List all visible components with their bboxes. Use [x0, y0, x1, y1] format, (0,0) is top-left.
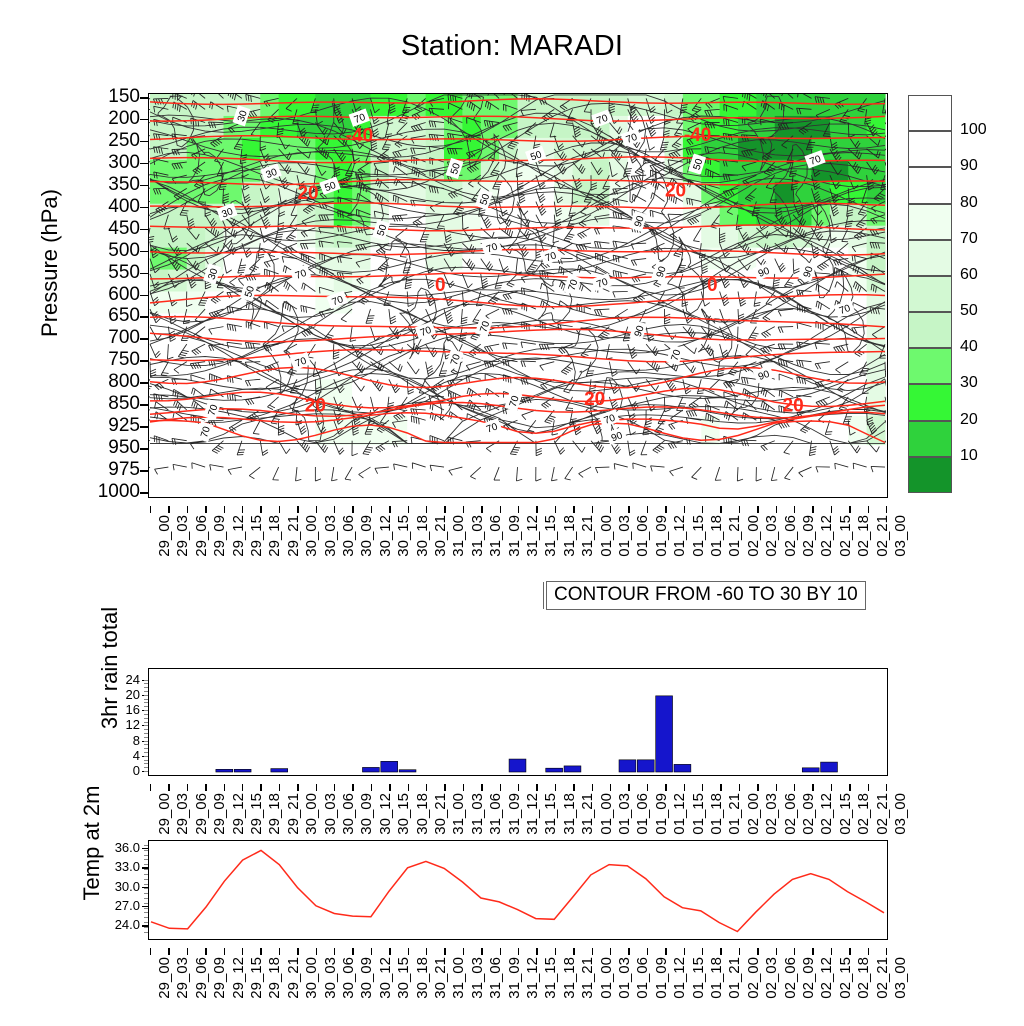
- rh-cell: [536, 160, 555, 183]
- wind-barb-feather: [294, 386, 300, 387]
- rain-bar: [216, 769, 233, 772]
- wind-barb-shaft: [149, 98, 150, 106]
- x-tick-mark: [150, 506, 151, 513]
- pressure-tick-mark: [140, 382, 148, 384]
- wind-barb-shaft: [885, 362, 886, 377]
- rh-cell: [793, 313, 812, 336]
- x-tick-mark: [849, 784, 850, 791]
- x-tick-label: 29_09: [211, 793, 228, 835]
- colorbar-tick-label: 90: [960, 157, 978, 175]
- x-tick-label: 30_00: [303, 793, 320, 835]
- pressure-tick-label: 200: [80, 108, 140, 130]
- temperature-contour-label: -40: [684, 125, 711, 146]
- rh-cell: [573, 94, 592, 117]
- x-tick-label: 31_03: [469, 793, 486, 835]
- x-tick-label: 30_21: [432, 793, 449, 835]
- x-tick-mark: [555, 784, 556, 791]
- colorbar-cell: [908, 384, 952, 420]
- x-tick-mark: [518, 948, 519, 955]
- wind-barb-feather: [754, 210, 760, 211]
- pressure-tick-label: 1000: [80, 481, 140, 503]
- rh-cell: [297, 116, 316, 139]
- wind-barb-feather: [626, 169, 632, 170]
- x-tick-mark: [665, 506, 666, 513]
- wind-barb-feather: [754, 208, 760, 209]
- x-tick-mark: [684, 784, 685, 791]
- x-tick-label: 29_06: [193, 957, 210, 999]
- wind-barb-shaft: [149, 123, 150, 125]
- rh-cell: [334, 248, 353, 271]
- pressure-tick-mark: [140, 229, 148, 231]
- pressure-tick-label: 700: [80, 327, 140, 349]
- wind-barb-shaft: [149, 228, 150, 243]
- pressure-tick-mark: [140, 316, 148, 318]
- wind-barb-feather: [726, 119, 727, 125]
- x-tick-label: 29_03: [174, 957, 191, 999]
- rain-tick-label: 24: [96, 672, 140, 687]
- temperature-contour-label: -40: [346, 126, 373, 147]
- temperature-contour-label: 20: [305, 396, 326, 417]
- rain-bar: [674, 764, 691, 772]
- x-tick-mark: [316, 784, 317, 791]
- wind-barb-shaft: [149, 157, 150, 162]
- wind-barb-feather: [625, 171, 631, 172]
- x-tick-label: 02_15: [837, 957, 854, 999]
- x-tick-label: 29_21: [285, 515, 302, 557]
- x-tick-mark: [536, 948, 537, 955]
- pressure-tick-label: 850: [80, 393, 140, 415]
- x-tick-label: 29_15: [248, 957, 265, 999]
- x-tick-label: 30_03: [322, 957, 339, 999]
- wind-barb-feather: [779, 406, 780, 412]
- rh-cell: [536, 270, 555, 293]
- wind-barb-feather: [180, 215, 186, 216]
- x-tick-label: 30_15: [395, 957, 412, 999]
- x-tick-mark: [444, 506, 445, 513]
- pressure-tick-mark: [140, 338, 148, 340]
- rain-bar: [637, 760, 654, 772]
- colorbar-cell: [908, 240, 952, 276]
- rh-cell: [426, 94, 445, 117]
- pressure-tick-label: 450: [80, 218, 140, 240]
- x-tick-mark: [500, 948, 501, 955]
- rh-cell: [812, 226, 831, 249]
- pressure-tick-mark: [140, 470, 148, 472]
- pressure-tick-mark: [140, 492, 148, 494]
- x-tick-mark: [592, 948, 593, 955]
- x-tick-mark: [610, 784, 611, 791]
- x-tick-mark: [831, 784, 832, 791]
- pressure-tick-mark: [140, 97, 148, 99]
- main-y-axis-label: Pressure (hPa): [37, 113, 63, 413]
- pressure-tick-label: 600: [80, 284, 140, 306]
- rh-cell: [371, 313, 390, 336]
- pressure-tick-mark: [140, 426, 148, 428]
- x-tick-mark: [334, 948, 335, 955]
- x-tick-label: 29_12: [230, 515, 247, 557]
- x-tick-label: 31_21: [579, 957, 596, 999]
- pressure-tick-mark: [140, 163, 148, 165]
- x-tick-label: 29_15: [248, 515, 265, 557]
- x-tick-mark: [316, 948, 317, 955]
- rain-bar: [399, 770, 416, 772]
- x-tick-label: 30_21: [432, 515, 449, 557]
- x-tick-mark: [628, 784, 629, 791]
- wind-barb-feather: [779, 390, 780, 396]
- wind-barb-shaft: [149, 202, 150, 203]
- x-tick-label: 31_03: [469, 957, 486, 999]
- x-tick-label: 29_00: [156, 793, 173, 835]
- wind-barb-shaft: [149, 182, 150, 188]
- x-tick-label: 30_15: [395, 515, 412, 557]
- wind-barb-shaft: [149, 414, 150, 420]
- x-tick-mark: [168, 506, 169, 513]
- wind-barb-feather: [182, 210, 188, 211]
- x-tick-label: 30_12: [377, 793, 394, 835]
- x-tick-label: 02_06: [782, 793, 799, 835]
- x-tick-mark: [408, 784, 409, 791]
- rh-cell: [701, 226, 720, 249]
- colorbar-tick-label: 100: [960, 121, 987, 139]
- wind-barb-feather: [584, 112, 590, 113]
- wind-barb-feather: [724, 118, 725, 124]
- x-tick-label: 29_03: [174, 515, 191, 557]
- rh-cell: [683, 226, 702, 249]
- wind-barb-feather: [319, 287, 320, 293]
- x-tick-label: 31_00: [450, 957, 467, 999]
- x-tick-label: 31_21: [579, 515, 596, 557]
- pressure-tick-label: 250: [80, 130, 140, 152]
- x-tick-label: 01_06: [634, 793, 651, 835]
- x-tick-label: 03_00: [892, 515, 909, 557]
- x-tick-mark: [849, 948, 850, 955]
- rain-tick-label: 16: [96, 702, 140, 717]
- wind-barb-shaft: [149, 397, 150, 401]
- rh-cell: [830, 160, 849, 183]
- colorbar-tick-label: 50: [960, 302, 978, 320]
- x-tick-mark: [812, 784, 813, 791]
- rh-cell: [775, 270, 794, 293]
- x-tick-label: 30_00: [303, 515, 320, 557]
- x-tick-mark: [389, 784, 390, 791]
- x-tick-mark: [242, 948, 243, 955]
- wind-barb-feather: [752, 215, 758, 216]
- wind-barb-feather: [290, 393, 296, 394]
- wind-barb-feather: [348, 171, 354, 172]
- pressure-tick-label: 800: [80, 371, 140, 393]
- x-tick-mark: [573, 784, 574, 791]
- temp-tick-label: 33.0: [88, 859, 140, 874]
- wind-barb-feather: [322, 268, 323, 274]
- x-tick-mark: [481, 506, 482, 513]
- x-tick-label: 02_00: [745, 793, 762, 835]
- wind-barb-feather: [293, 121, 299, 122]
- x-tick-label: 31_06: [487, 515, 504, 557]
- rain-bar: [546, 768, 563, 772]
- x-tick-mark: [297, 506, 298, 513]
- rh-cell: [756, 182, 775, 205]
- x-tick-mark: [665, 784, 666, 791]
- wind-barb-feather: [293, 123, 299, 124]
- x-tick-mark: [297, 784, 298, 791]
- x-tick-label: 01_09: [653, 515, 670, 557]
- x-tick-mark: [334, 506, 335, 513]
- x-tick-label: 31_18: [561, 957, 578, 999]
- x-tick-label: 01_15: [690, 515, 707, 557]
- x-tick-mark: [187, 948, 188, 955]
- rh-cell: [426, 138, 445, 161]
- rh-cell: [150, 138, 169, 161]
- contour-info-box: CONTOUR FROM -60 TO 30 BY 10: [546, 581, 866, 610]
- x-tick-label: 29_18: [266, 515, 283, 557]
- rh-cell: [371, 94, 390, 117]
- colorbar-cell: [908, 457, 952, 493]
- wind-barb-shaft: [871, 466, 885, 467]
- pressure-tick-mark: [140, 185, 148, 187]
- rh-cell: [848, 94, 867, 117]
- page-title: Station: MARADI: [0, 30, 1024, 63]
- rh-cell: [646, 94, 665, 117]
- wind-barb-feather: [881, 187, 886, 188]
- wind-barb-shaft: [149, 436, 150, 441]
- rh-cell: [518, 416, 537, 446]
- pressure-tick-mark: [140, 360, 148, 362]
- rain-bars: [216, 696, 838, 772]
- x-tick-mark: [426, 784, 427, 791]
- x-tick-mark: [224, 784, 225, 791]
- main-y-tick-labels: 1502002503003504004505005506006507007508…: [78, 93, 140, 498]
- wind-barb-feather: [181, 213, 187, 214]
- x-tick-label: 29_00: [156, 957, 173, 999]
- wind-barb-shaft: [149, 109, 150, 113]
- x-tick-mark: [500, 784, 501, 791]
- pressure-tick-mark: [140, 448, 148, 450]
- humidity-colorbar: 100908070605040302010: [908, 95, 952, 493]
- rh-cell: [867, 357, 886, 380]
- x-tick-label: 01_03: [616, 793, 633, 835]
- colorbar-tick-label: 20: [960, 411, 978, 429]
- x-tick-mark: [297, 948, 298, 955]
- x-tick-mark: [555, 506, 556, 513]
- wind-barb-feather: [347, 173, 353, 174]
- x-tick-mark: [684, 506, 685, 513]
- x-tick-mark: [812, 948, 813, 955]
- x-tick-mark: [389, 948, 390, 955]
- x-tick-mark: [518, 506, 519, 513]
- x-tick-mark: [647, 784, 648, 791]
- pressure-tick-mark: [140, 207, 148, 209]
- x-tick-label: 01_06: [634, 957, 651, 999]
- rh-cell: [499, 182, 518, 205]
- x-tick-mark: [776, 506, 777, 513]
- x-tick-label: 02_03: [763, 957, 780, 999]
- wind-barb-shaft: [149, 407, 150, 410]
- temp-y-tick-labels: 36.033.030.027.024.0: [88, 834, 140, 946]
- colorbar-cell: [908, 167, 952, 203]
- rh-cell: [554, 313, 573, 336]
- x-tick-mark: [647, 948, 648, 955]
- colorbar-tick-label: 60: [960, 266, 978, 284]
- x-tick-label: 31_09: [506, 793, 523, 835]
- x-tick-label: 02_09: [800, 515, 817, 557]
- pressure-tick-mark: [140, 141, 148, 143]
- x-tick-label: 02_18: [855, 793, 872, 835]
- rh-cell: [536, 401, 555, 416]
- x-tick-mark: [794, 784, 795, 791]
- x-tick-label: 29_09: [211, 957, 228, 999]
- temperature-line: [151, 850, 884, 931]
- x-tick-label: 31_09: [506, 957, 523, 999]
- x-tick-mark: [776, 948, 777, 955]
- x-tick-label: 29_12: [230, 793, 247, 835]
- x-tick-label: 31_12: [524, 515, 541, 557]
- x-tick-label: 30_06: [340, 793, 357, 835]
- wind-barb-feather: [513, 163, 519, 164]
- x-tick-mark: [463, 506, 464, 513]
- x-tick-mark: [205, 948, 206, 955]
- wind-barb-feather: [414, 417, 415, 423]
- x-tick-label: 29_03: [174, 793, 191, 835]
- x-tick-mark: [352, 506, 353, 513]
- rh-cell: [444, 182, 463, 205]
- x-tick-label: 02_15: [837, 793, 854, 835]
- pressure-tick-label: 500: [80, 240, 140, 262]
- x-tick-label: 01_21: [726, 793, 743, 835]
- x-tick-label: 01_12: [671, 957, 688, 999]
- pressure-tick-label: 750: [80, 349, 140, 371]
- pressure-tick-mark: [140, 295, 148, 297]
- colorbar-tick-label: 30: [960, 374, 978, 392]
- x-tick-mark: [757, 948, 758, 955]
- rh-cell: [407, 138, 426, 161]
- x-tick-label: 30_09: [358, 515, 375, 557]
- wind-barb-feather: [853, 463, 854, 469]
- x-tick-label: 02_18: [855, 515, 872, 557]
- colorbar-tick-label: 70: [960, 230, 978, 248]
- wind-barb-feather: [661, 147, 667, 148]
- wind-barb-shaft: [668, 214, 683, 215]
- x-tick-label: 30_09: [358, 793, 375, 835]
- rain-bar: [381, 761, 398, 772]
- x-tick-mark: [628, 948, 629, 955]
- wind-barb-feather: [221, 184, 227, 185]
- x-tick-mark: [444, 948, 445, 955]
- rh-cell: [775, 182, 794, 205]
- rain-bar: [564, 766, 581, 772]
- x-tick-mark: [408, 506, 409, 513]
- x-tick-mark: [463, 948, 464, 955]
- wind-barb-feather: [788, 160, 794, 161]
- rh-cell: [591, 182, 610, 205]
- temperature-line-chart: [148, 840, 888, 940]
- x-tick-label: 30_09: [358, 957, 375, 999]
- wind-barb-feather: [550, 136, 556, 137]
- x-tick-mark: [242, 784, 243, 791]
- x-tick-mark: [628, 506, 629, 513]
- wind-barb-feather: [293, 388, 299, 389]
- x-tick-mark: [279, 784, 280, 791]
- x-tick-label: 01_12: [671, 793, 688, 835]
- x-tick-mark: [518, 784, 519, 791]
- sounding-svg: 3070703030505050507050703050707050707070…: [149, 94, 886, 496]
- x-tick-mark: [592, 784, 593, 791]
- x-tick-label: 30_21: [432, 957, 449, 999]
- pressure-tick-label: 925: [80, 415, 140, 437]
- wind-barb-feather: [291, 390, 297, 391]
- x-tick-mark: [352, 948, 353, 955]
- wind-barb-shaft: [315, 379, 316, 394]
- rh-cell: [683, 94, 702, 117]
- wind-barb-feather: [728, 120, 729, 126]
- wind-barb-shaft: [149, 136, 150, 137]
- x-tick-label: 30_03: [322, 515, 339, 557]
- pressure-tick-label: 350: [80, 174, 140, 196]
- x-tick-mark: [592, 506, 593, 513]
- x-tick-label: 29_09: [211, 515, 228, 557]
- x-tick-label: 29_21: [285, 957, 302, 999]
- x-tick-label: 31_00: [450, 793, 467, 835]
- x-tick-mark: [279, 506, 280, 513]
- wind-barb-feather: [416, 417, 417, 423]
- x-tick-label: 01_21: [726, 957, 743, 999]
- x-tick-label: 31_03: [469, 515, 486, 557]
- x-tick-label: 01_00: [598, 515, 615, 557]
- wind-barb-shaft: [149, 147, 150, 149]
- pressure-tick-label: 950: [80, 437, 140, 459]
- x-tick-mark: [168, 948, 169, 955]
- x-tick-mark: [831, 948, 832, 955]
- pressure-tick-label: 650: [80, 305, 140, 327]
- x-tick-mark: [831, 506, 832, 513]
- wind-barb-feather: [823, 136, 829, 137]
- x-tick-label: 01_18: [708, 793, 725, 835]
- x-tick-label: 01_12: [671, 515, 688, 557]
- x-tick-label: 31_15: [542, 957, 559, 999]
- x-tick-mark: [463, 784, 464, 791]
- x-tick-mark: [868, 506, 869, 513]
- x-tick-label: 02_06: [782, 957, 799, 999]
- wind-barb-feather: [588, 195, 594, 196]
- rh-cell: [205, 94, 224, 117]
- x-tick-mark: [868, 784, 869, 791]
- x-tick-label: 31_09: [506, 515, 523, 557]
- rh-cell: [609, 270, 628, 293]
- x-tick-mark: [739, 784, 740, 791]
- x-tick-mark: [886, 948, 887, 955]
- wind-barb-feather: [587, 197, 593, 198]
- temperature-contour-label: 20: [584, 389, 605, 410]
- rh-cell: [150, 160, 169, 183]
- rh-cell: [407, 357, 426, 380]
- rh-cell: [867, 248, 886, 271]
- x-tick-mark: [573, 506, 574, 513]
- x-tick-mark: [187, 506, 188, 513]
- x-tick-label: 03_00: [892, 793, 909, 835]
- x-tick-label: 02_15: [837, 515, 854, 557]
- x-tick-mark: [536, 506, 537, 513]
- x-tick-mark: [647, 506, 648, 513]
- rh-cell: [205, 379, 224, 402]
- wind-barb-feather: [584, 202, 590, 203]
- x-tick-label: 02_03: [763, 515, 780, 557]
- x-tick-label: 31_15: [542, 793, 559, 835]
- x-tick-mark: [371, 784, 372, 791]
- x-tick-mark: [426, 948, 427, 955]
- x-tick-mark: [481, 948, 482, 955]
- wind-barb-feather: [786, 162, 792, 163]
- x-tick-label: 02_09: [800, 793, 817, 835]
- x-tick-mark: [739, 948, 740, 955]
